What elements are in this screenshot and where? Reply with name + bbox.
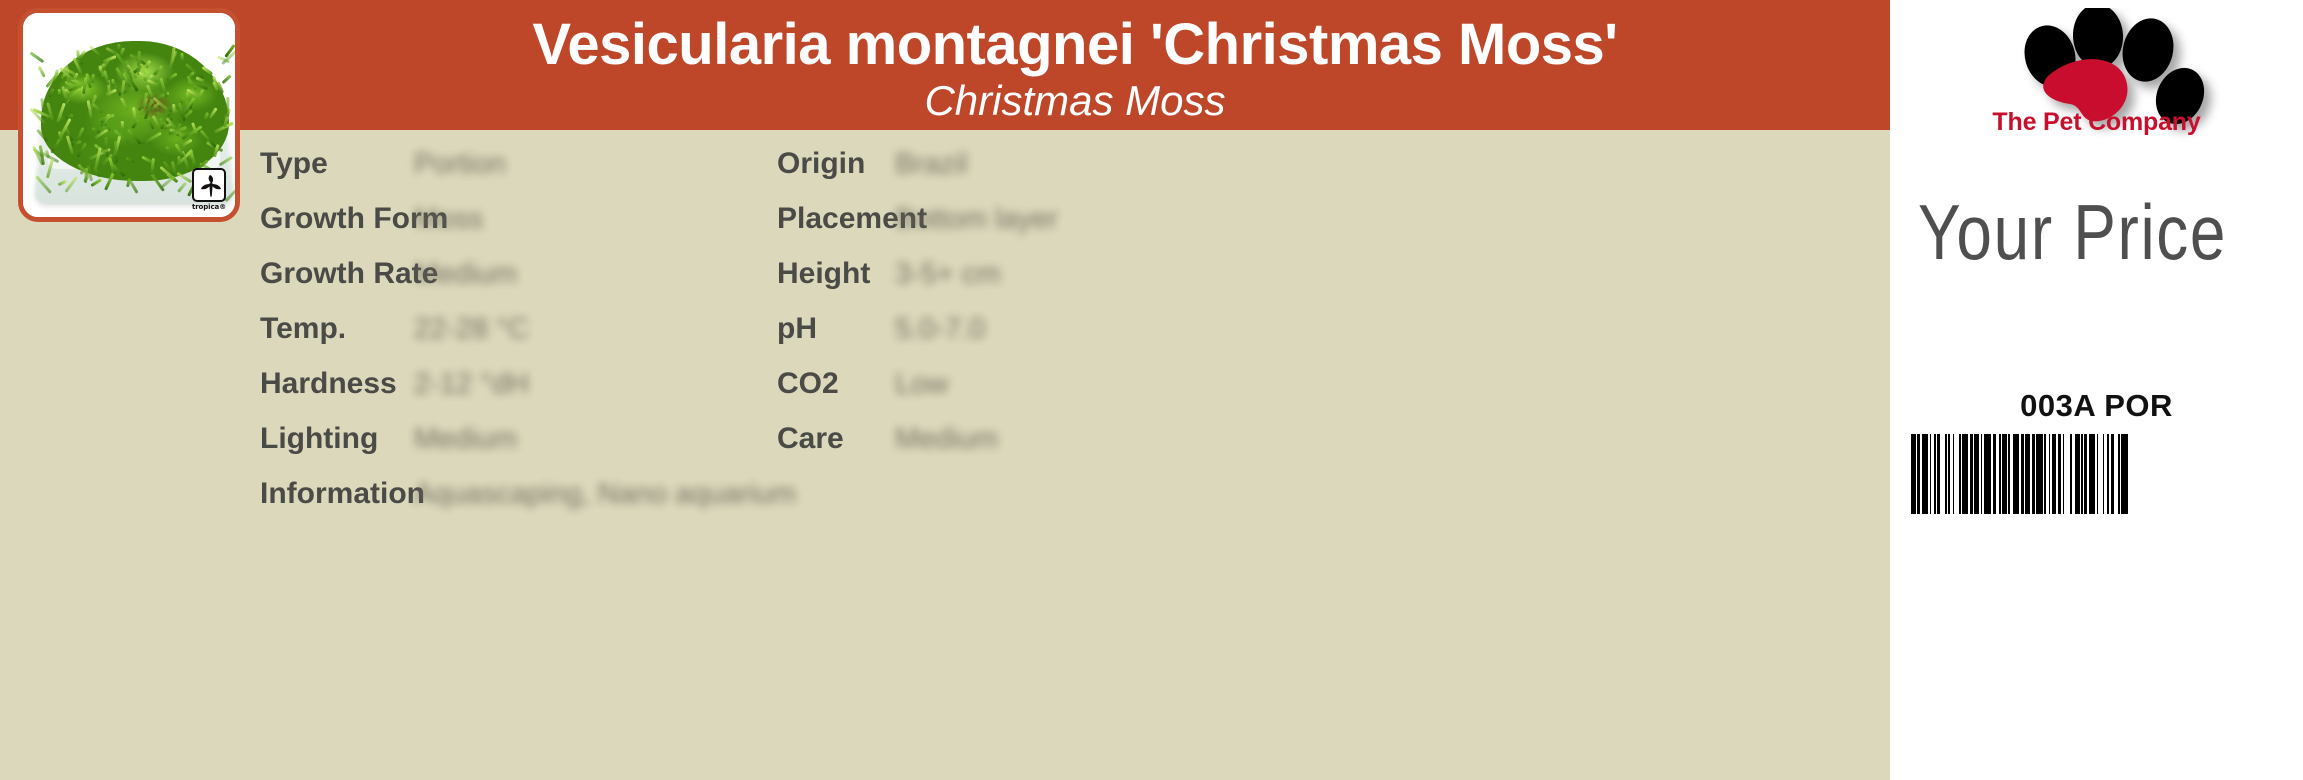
spec-value: Aquascaping, Nano aquarium [414,474,796,514]
barcode-image [1911,434,2279,514]
spec-value: 3-5+ cm [895,254,1001,294]
shelf-label: tropica® Vesicularia montagnei 'Christma… [0,0,2303,780]
spec-value: 5.0-7.0 [895,309,985,349]
spec-row: OriginBrazil [0,144,1890,184]
spec-value: Bottom layer [895,199,1058,239]
barcode-bar [1984,434,1992,514]
spec-row: InformationAquascaping, Nano aquarium [0,474,1890,514]
spec-table: TypePortionGrowth FormMossGrowth RateMed… [0,130,1890,780]
product-photo-card: tropica® [18,8,240,222]
spec-row: PlacementBottom layer [0,199,1890,239]
spec-label: CO2 [777,364,839,404]
spec-label: Height [777,254,870,294]
spec-value: Medium [895,419,998,459]
spec-value: Brazil [895,144,968,184]
spec-label: Origin [777,144,865,184]
spec-row: CareMedium [0,419,1890,459]
page-title: Vesicularia montagnei 'Christmas Moss' [260,14,1890,76]
spec-row: CO2Low [0,364,1890,404]
moss-plant-image [41,41,229,181]
spec-value: Low [895,364,948,404]
tropica-plant-icon [192,168,226,202]
moss-texture [41,41,229,181]
spec-row: pH5.0-7.0 [0,309,1890,349]
spec-row: Height3-5+ cm [0,254,1890,294]
common-name: Christmas Moss [260,78,1890,124]
spec-label: Care [777,419,844,459]
tropica-label: tropica® [191,203,227,211]
sku-code: 003A POR [1890,388,2303,424]
spec-label: pH [777,309,817,349]
spec-label: Information [260,474,425,514]
barcode-bar [2128,434,2131,514]
price-label: Your Price [1918,186,2295,278]
tropica-badge: tropica® [191,168,227,211]
brand-name: The Pet Company [1890,108,2303,137]
